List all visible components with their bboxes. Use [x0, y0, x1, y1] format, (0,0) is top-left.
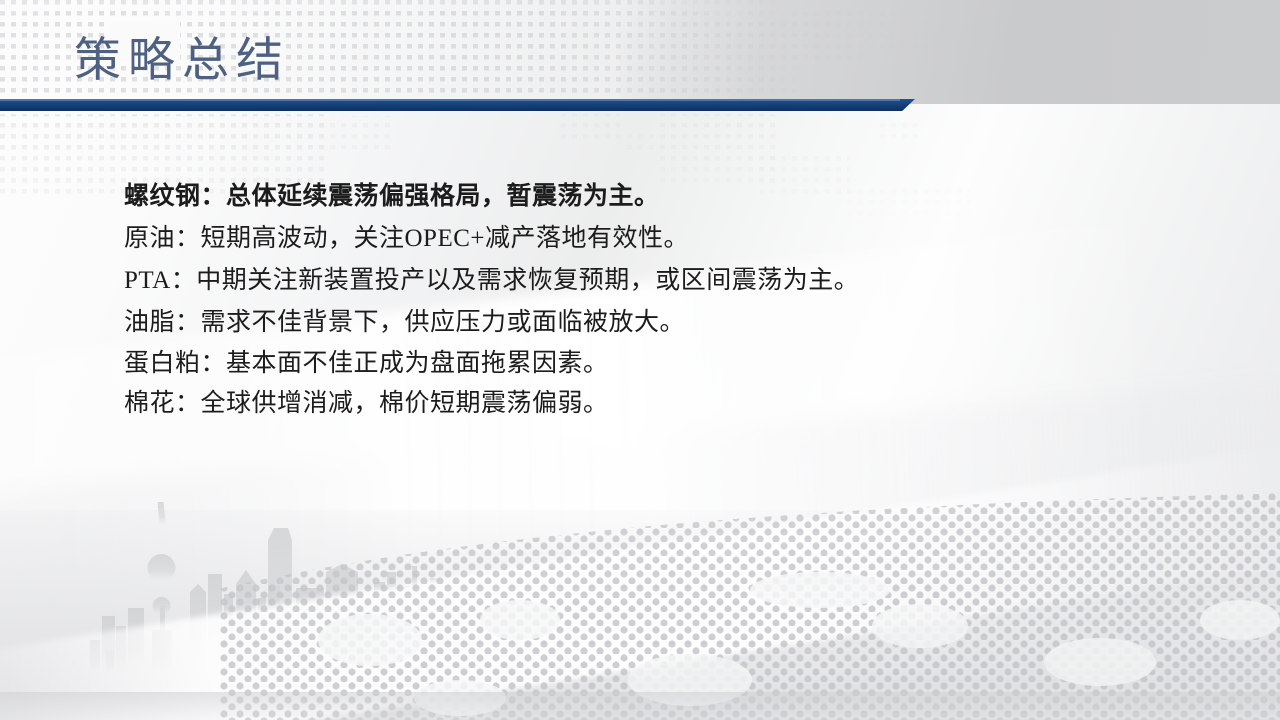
slide: 策略总结	[0, 0, 1280, 720]
content-line-pta: PTA：中期关注新装置投产以及需求恢复预期，或区间震荡为主。	[124, 260, 1184, 302]
content-line-cotton: 棉花：全球供增消减，棉价短期震荡偏弱。	[124, 384, 1184, 424]
title-divider	[0, 99, 920, 113]
halftone-globe-icon	[220, 430, 1280, 720]
bottom-edge-shade	[0, 692, 1280, 720]
content-list: 螺纹钢：总体延续震荡偏强格局，暂震荡为主。 原油：短期高波动，关注OPEC+减产…	[124, 176, 1184, 424]
content-line-rebar: 螺纹钢：总体延续震荡偏强格局，暂震荡为主。	[124, 176, 1184, 218]
page-title: 策略总结	[74, 32, 290, 90]
title-divider-highlight	[0, 99, 900, 101]
content-line-oils-fats: 油脂：需求不佳背景下，供应压力或面临被放大。	[124, 302, 1184, 344]
content-line-protein-meal: 蛋白粕：基本面不佳正成为盘面拖累因素。	[124, 344, 1184, 384]
slide-header: 策略总结	[0, 0, 1280, 118]
content-line-crude-oil: 原油：短期高波动，关注OPEC+减产落地有效性。	[124, 218, 1184, 260]
